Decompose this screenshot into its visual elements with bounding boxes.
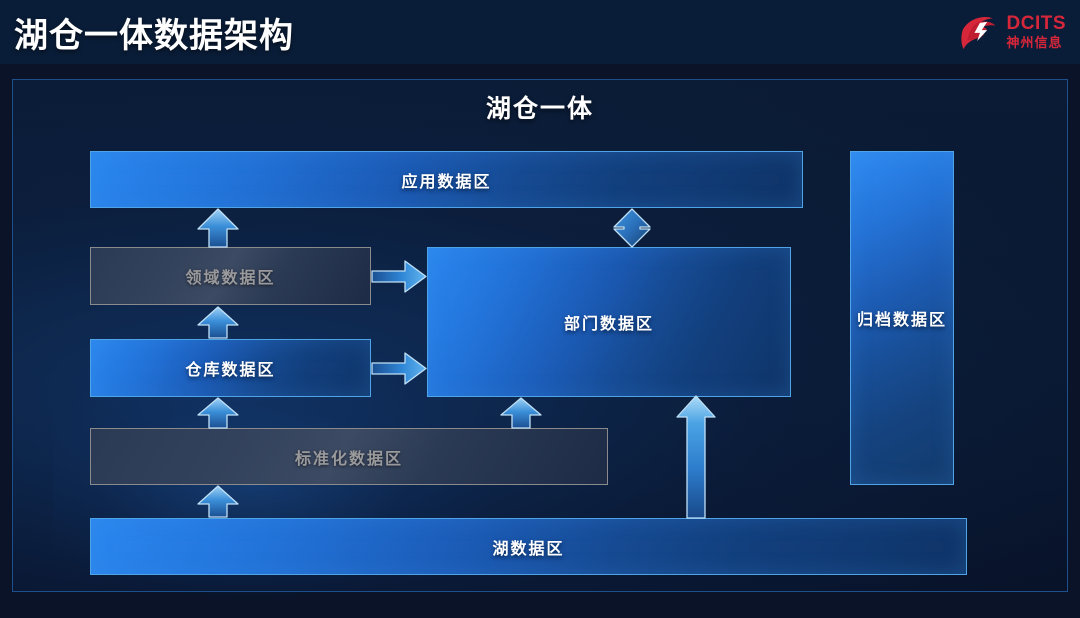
block-archive-data-zone[interactable]: 归档数据区 xyxy=(850,151,954,485)
dcits-mark-icon xyxy=(957,11,1001,51)
arrow-department-to-application-double-icon xyxy=(611,208,653,248)
logo-wordmark: DCITS 神州信息 xyxy=(1007,14,1067,49)
block-label: 领域数据区 xyxy=(185,264,275,288)
arrow-standardized-to-department-up-icon xyxy=(499,397,543,429)
block-department-data-zone[interactable]: 部门数据区 xyxy=(427,247,791,397)
diagram-frame: 湖仓一体 应用数据区 领域数据区 仓库数据区 标准化数据区 湖数据区 部门数据区 xyxy=(12,79,1068,592)
diagram-title: 湖仓一体 xyxy=(13,89,1067,125)
slide-header: 湖仓一体数据架构 DCITS 神州信息 xyxy=(0,0,1080,64)
slide-canvas: 湖仓一体数据架构 DCITS 神州信息 湖仓一体 应用数据区 xyxy=(0,0,1080,618)
arrow-warehouse-to-domain-up-icon xyxy=(196,306,240,339)
block-standardized-data-zone[interactable]: 标准化数据区 xyxy=(90,428,608,485)
page-title: 湖仓一体数据架构 xyxy=(14,8,294,57)
logo-text-cn: 神州信息 xyxy=(1007,36,1067,49)
brand-logo: DCITS 神州信息 xyxy=(957,8,1067,54)
arrow-warehouse-to-department-right-icon xyxy=(371,352,427,385)
block-label: 应用数据区 xyxy=(401,168,491,192)
arrow-domain-to-department-right-icon xyxy=(371,260,427,293)
block-label: 部门数据区 xyxy=(564,310,654,334)
block-domain-data-zone[interactable]: 领域数据区 xyxy=(90,247,371,305)
block-label: 湖数据区 xyxy=(492,535,564,559)
arrow-domain-to-application-up-icon xyxy=(196,208,240,248)
logo-text-en: DCITS xyxy=(1007,14,1067,33)
arrow-standardized-to-warehouse-up-icon xyxy=(196,397,240,429)
block-warehouse-data-zone[interactable]: 仓库数据区 xyxy=(90,339,371,397)
block-application-data-zone[interactable]: 应用数据区 xyxy=(90,151,803,208)
arrow-lake-to-standardized-up-icon xyxy=(196,485,240,518)
block-label: 仓库数据区 xyxy=(185,356,275,380)
block-label: 归档数据区 xyxy=(857,306,947,330)
block-label: 标准化数据区 xyxy=(295,445,403,469)
block-lake-data-zone[interactable]: 湖数据区 xyxy=(90,518,967,575)
arrow-lake-to-department-up-icon xyxy=(674,395,718,519)
